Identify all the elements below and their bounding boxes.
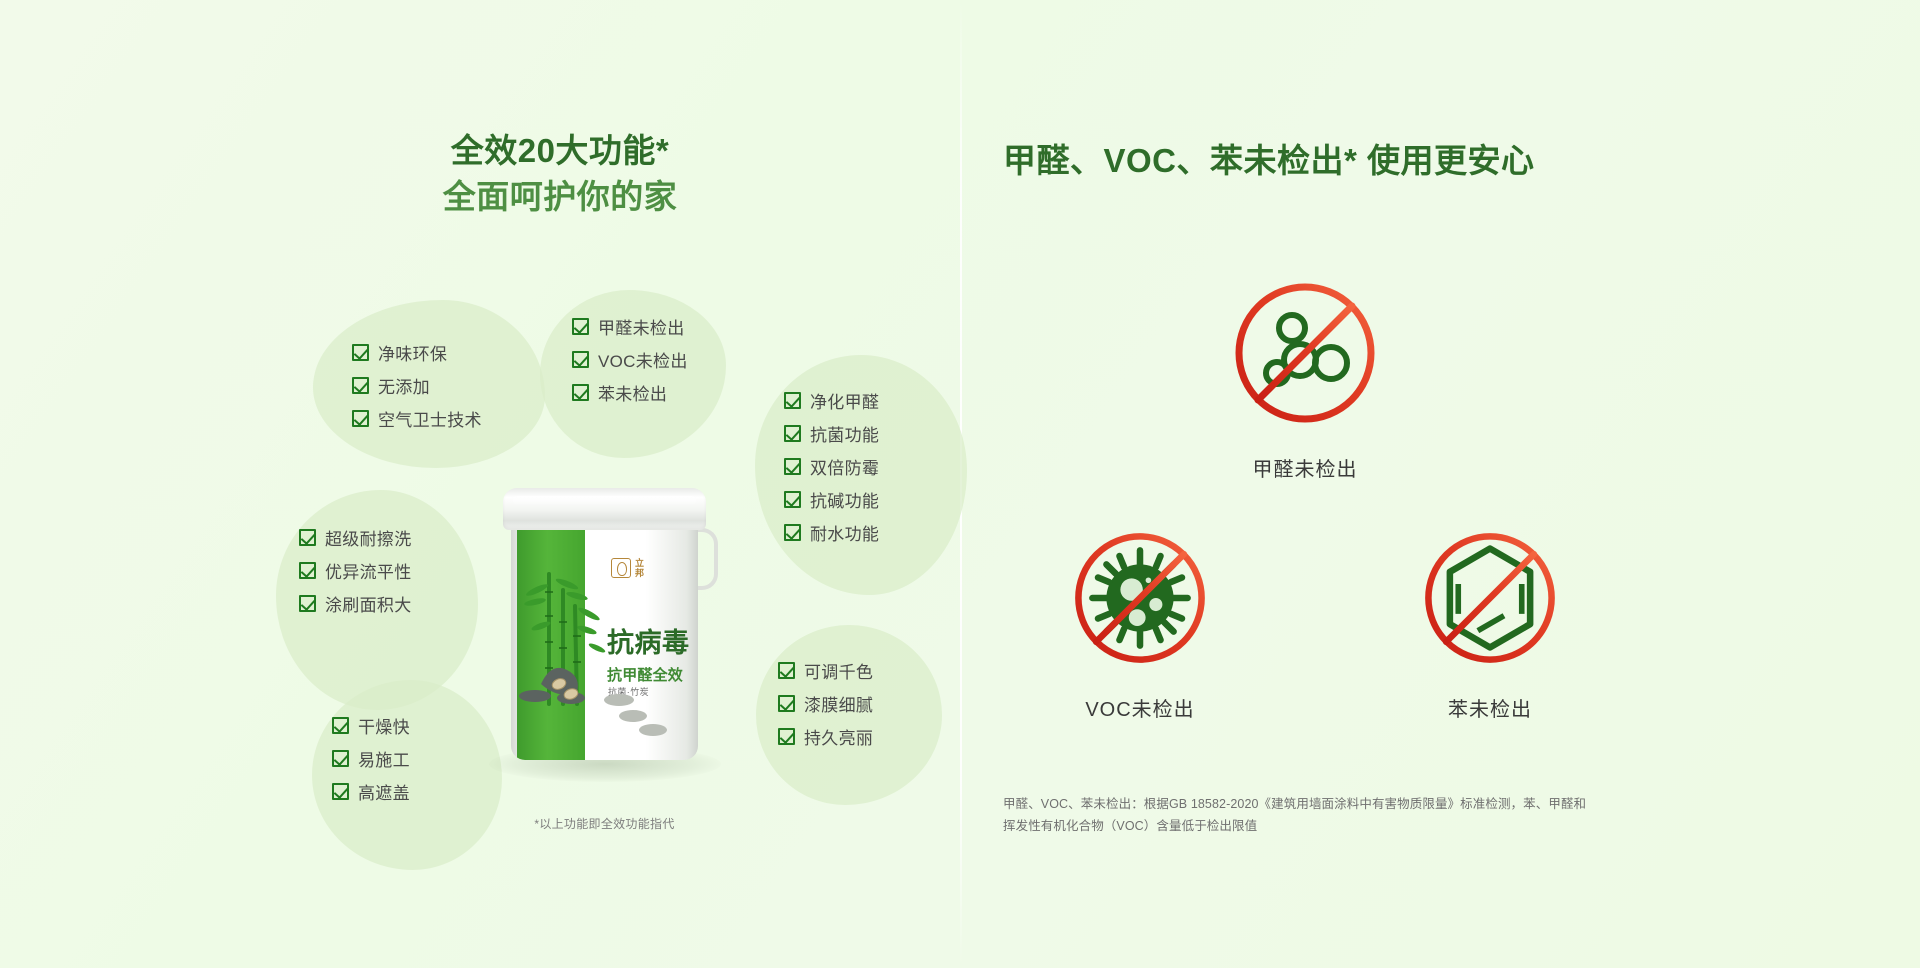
feature-label: 优异流平性 xyxy=(325,558,412,583)
feature-group-application: 干燥快 易施工 高遮盖 xyxy=(332,713,410,804)
feature-item: 高遮盖 xyxy=(332,779,410,804)
feature-label: 易施工 xyxy=(358,746,410,771)
checkbox-checked-icon xyxy=(784,425,801,442)
left-heading-line2: 全面呵护你的家 xyxy=(330,174,790,220)
bamboo-illustration-icon xyxy=(519,556,615,706)
feature-item: 优异流平性 xyxy=(299,558,412,583)
checkbox-checked-icon xyxy=(332,717,349,734)
feature-label: 净化甲醛 xyxy=(810,388,879,413)
product-subtitle: 抗甲醛全效 xyxy=(607,664,683,685)
product-paint-bucket: 立 邦 抗病毒 抗甲醛全效 抗菌·竹炭 xyxy=(497,488,712,768)
feature-item: 耐水功能 xyxy=(784,520,879,545)
feature-label: 苯未检出 xyxy=(598,380,667,405)
checkbox-checked-icon xyxy=(332,783,349,800)
feature-label: 空气卫士技术 xyxy=(378,406,482,431)
feature-item: 净化甲醛 xyxy=(784,388,879,413)
feature-item: 净味环保 xyxy=(352,340,482,365)
checkbox-checked-icon xyxy=(572,318,589,335)
icon-block-benzene: 苯未检出 xyxy=(1375,528,1605,722)
feature-group-eco: 净味环保 无添加 空气卫士技术 xyxy=(352,340,482,431)
product-footnote: *以上功能即全效功能指代 xyxy=(497,815,712,832)
footnote-line-1: 甲醛、VOC、苯未检出：根据GB 18582-2020《建筑用墙面涂料中有害物质… xyxy=(1003,794,1683,816)
feature-label: 双倍防霉 xyxy=(810,454,879,479)
icon-caption: VOC未检出 xyxy=(1030,693,1250,722)
checkbox-checked-icon xyxy=(784,491,801,508)
checkbox-checked-icon xyxy=(784,458,801,475)
bucket-handle xyxy=(696,528,718,590)
feature-label: 耐水功能 xyxy=(810,520,879,545)
brand-name-cn: 立 邦 xyxy=(635,559,644,578)
product-title: 抗病毒 xyxy=(607,630,690,657)
virus-icon xyxy=(1070,528,1210,668)
left-heading-line1: 全效20大功能* xyxy=(330,128,790,174)
feature-group-finish: 可调千色 漆膜细腻 持久亮丽 xyxy=(778,658,873,749)
checkbox-checked-icon xyxy=(352,344,369,361)
icon-block-formaldehyde: 甲醛未检出 xyxy=(1180,278,1430,482)
checkbox-checked-icon xyxy=(778,728,795,745)
feature-label: 可调千色 xyxy=(804,658,873,683)
icon-block-voc: VOC未检出 xyxy=(1030,528,1250,722)
benzene-ring-icon xyxy=(1420,528,1560,668)
feature-label: 持久亮丽 xyxy=(804,724,873,749)
feature-label: 超级耐擦洗 xyxy=(325,525,412,550)
brand-char-bottom: 邦 xyxy=(635,569,644,578)
feature-item: 甲醛未检出 xyxy=(572,314,688,339)
checkbox-checked-icon xyxy=(778,695,795,712)
checkbox-checked-icon xyxy=(332,750,349,767)
left-panel-heading: 全效20大功能* 全面呵护你的家 xyxy=(330,128,790,219)
feature-item: 双倍防霉 xyxy=(784,454,879,479)
feature-label: 干燥快 xyxy=(358,713,410,738)
checkbox-checked-icon xyxy=(572,351,589,368)
feature-item: VOC未检出 xyxy=(572,347,688,372)
feature-item: 苯未检出 xyxy=(572,380,688,405)
stepping-stones-icon xyxy=(603,688,687,744)
checkbox-checked-icon xyxy=(352,377,369,394)
checkbox-checked-icon xyxy=(299,595,316,612)
molecule-icon xyxy=(1230,278,1380,428)
right-panel-footnote: 甲醛、VOC、苯未检出：根据GB 18582-2020《建筑用墙面涂料中有害物质… xyxy=(1003,794,1683,838)
feature-item: 持久亮丽 xyxy=(778,724,873,749)
feature-label: 甲醛未检出 xyxy=(598,314,685,339)
checkbox-checked-icon xyxy=(778,662,795,679)
feature-label: 抗菌功能 xyxy=(810,421,879,446)
footnote-line-2: 挥发性有机化合物（VOC）含量低于检出限值 xyxy=(1003,816,1683,838)
bucket-body: 立 邦 抗病毒 抗甲醛全效 抗菌·竹炭 xyxy=(511,522,698,760)
feature-item: 涂刷面积大 xyxy=(299,591,412,616)
feature-item: 无添加 xyxy=(352,373,482,398)
checkbox-checked-icon xyxy=(299,562,316,579)
checkbox-checked-icon xyxy=(299,529,316,546)
icon-caption: 甲醛未检出 xyxy=(1180,453,1430,482)
feature-item: 超级耐擦洗 xyxy=(299,525,412,550)
feature-item: 可调千色 xyxy=(778,658,873,683)
checkbox-checked-icon xyxy=(572,384,589,401)
feature-label: 抗碱功能 xyxy=(810,487,879,512)
nippon-logo-frame-icon xyxy=(611,558,631,578)
feature-label: 涂刷面积大 xyxy=(325,591,412,616)
feature-label: 净味环保 xyxy=(378,340,447,365)
checkbox-checked-icon xyxy=(784,524,801,541)
feature-item: 抗碱功能 xyxy=(784,487,879,512)
page-root: 全效20大功能* 全面呵护你的家 净味环保 无添加 空气卫士技术 甲醛未检出 V… xyxy=(0,0,1920,968)
bucket-lid xyxy=(503,488,706,530)
feature-group-protection: 净化甲醛 抗菌功能 双倍防霉 抗碱功能 耐水功能 xyxy=(784,388,879,545)
feature-group-undetected: 甲醛未检出 VOC未检出 苯未检出 xyxy=(572,314,688,405)
feature-group-durability: 超级耐擦洗 优异流平性 涂刷面积大 xyxy=(299,525,412,616)
feature-label: 无添加 xyxy=(378,373,430,398)
checkbox-checked-icon xyxy=(352,410,369,427)
checkbox-checked-icon xyxy=(784,392,801,409)
icon-caption: 苯未检出 xyxy=(1375,693,1605,722)
feature-item: 抗菌功能 xyxy=(784,421,879,446)
feature-item: 空气卫士技术 xyxy=(352,406,482,431)
feature-label: VOC未检出 xyxy=(598,347,688,372)
feature-label: 漆膜细腻 xyxy=(804,691,873,716)
right-panel-heading: 甲醛、VOC、苯未检出* 使用更安心 xyxy=(1003,134,1535,182)
brand-char-top: 立 xyxy=(635,559,644,568)
feature-label: 高遮盖 xyxy=(358,779,410,804)
feature-item: 易施工 xyxy=(332,746,410,771)
brand-logo: 立 邦 xyxy=(611,558,644,578)
feature-item: 漆膜细腻 xyxy=(778,691,873,716)
feature-item: 干燥快 xyxy=(332,713,410,738)
